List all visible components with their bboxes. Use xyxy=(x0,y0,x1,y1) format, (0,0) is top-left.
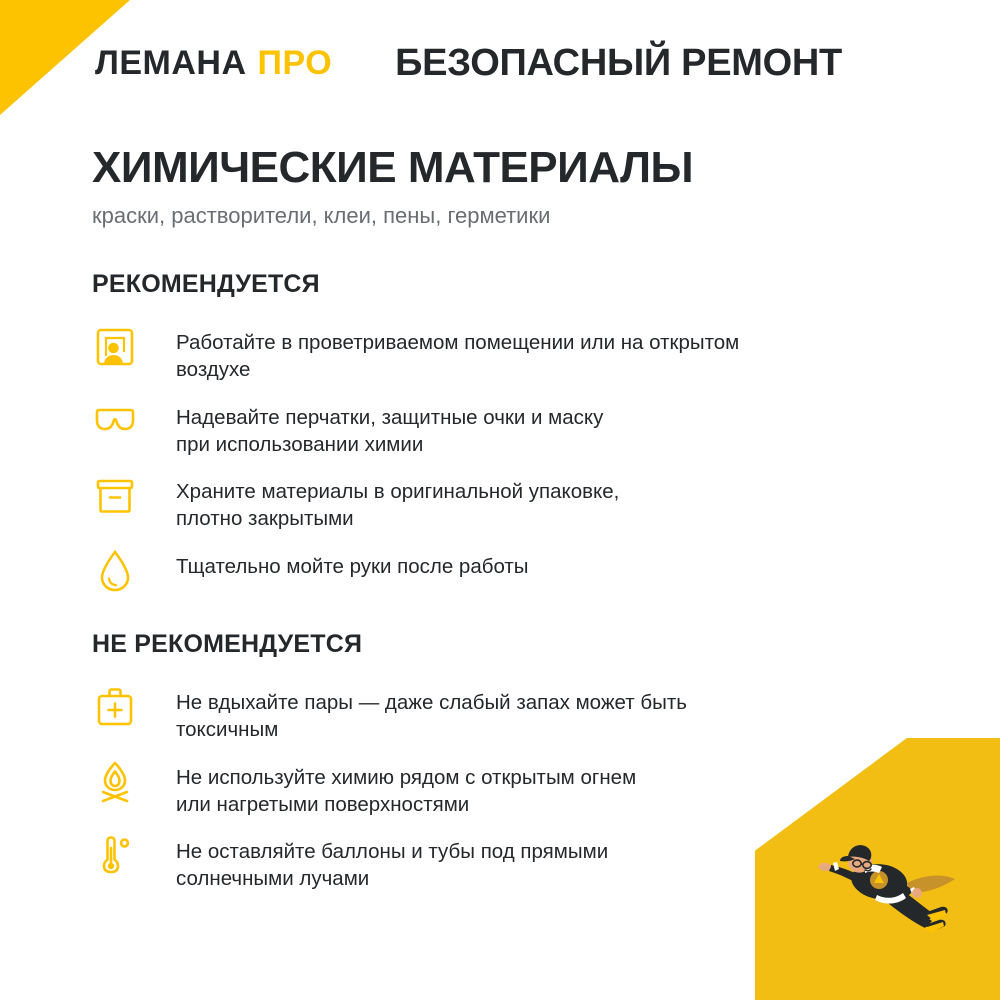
list-item: Тщательно мойте руки после работы xyxy=(92,549,739,595)
list-item-text: Не оставляйте баллоны и тубы под прямыми… xyxy=(176,834,608,893)
list-item: Храните материалы в оригинальной упаковк… xyxy=(92,474,739,533)
open-window-ventilation-icon xyxy=(92,323,138,371)
list-item-text: Надевайте перчатки, защитные очки и маск… xyxy=(176,400,603,459)
list-item-text: Тщательно мойте руки после работы xyxy=(176,549,529,580)
first-aid-kit-icon xyxy=(92,683,138,731)
logo-text-secondary: ПРО xyxy=(258,44,333,82)
list-item: Не используйте химию рядом с открытым ог… xyxy=(92,760,687,819)
brand-logo: ЛЕМАНАПРО xyxy=(95,44,332,83)
section-heading-recommended: РЕКОМЕНДУЕТСЯ xyxy=(92,270,739,299)
safety-goggles-icon xyxy=(92,398,138,446)
campfire-open-flame-icon xyxy=(92,758,138,806)
list-item: Не вдыхайте пары — даже слабый запах мож… xyxy=(92,685,687,744)
header: ЛЕМАНАПРО БЕЗОПАСНЫЙ РЕМОНТ xyxy=(95,42,842,85)
section-heading-not-recommended: НЕ РЕКОМЕНДУЕТСЯ xyxy=(92,630,687,659)
header-campaign-title: БЕЗОПАСНЫЙ РЕМОНТ xyxy=(395,42,842,85)
thermometer-sun-icon xyxy=(92,832,138,880)
page-subtitle: краски, растворители, клеи, пены, гермет… xyxy=(92,203,693,229)
title-block: ХИМИЧЕСКИЕ МАТЕРИАЛЫ краски, растворител… xyxy=(92,145,693,229)
list-item-text: Храните материалы в оригинальной упаковк… xyxy=(176,474,619,533)
list-item: Работайте в проветриваемом помещении или… xyxy=(92,325,739,384)
flying-superhero-mascot xyxy=(815,835,965,945)
list-item: Надевайте перчатки, защитные очки и маск… xyxy=(92,400,739,459)
list-item-text: Работайте в проветриваемом помещении или… xyxy=(176,325,739,384)
section-recommended: РЕКОМЕНДУЕТСЯ Работайте в проветриваемом… xyxy=(92,270,739,611)
logo-text-primary: ЛЕМАНА xyxy=(95,44,247,82)
section-not-recommended: НЕ РЕКОМЕНДУЕТСЯ Не вдыхайте пары — даже… xyxy=(92,630,687,909)
list-item: Не оставляйте баллоны и тубы под прямыми… xyxy=(92,834,687,893)
list-item-text: Не используйте химию рядом с открытым ог… xyxy=(176,760,636,819)
storage-box-icon xyxy=(92,472,138,520)
water-droplet-icon xyxy=(92,547,138,595)
page-title: ХИМИЧЕСКИЕ МАТЕРИАЛЫ xyxy=(92,145,693,191)
list-item-text: Не вдыхайте пары — даже слабый запах мож… xyxy=(176,685,687,744)
